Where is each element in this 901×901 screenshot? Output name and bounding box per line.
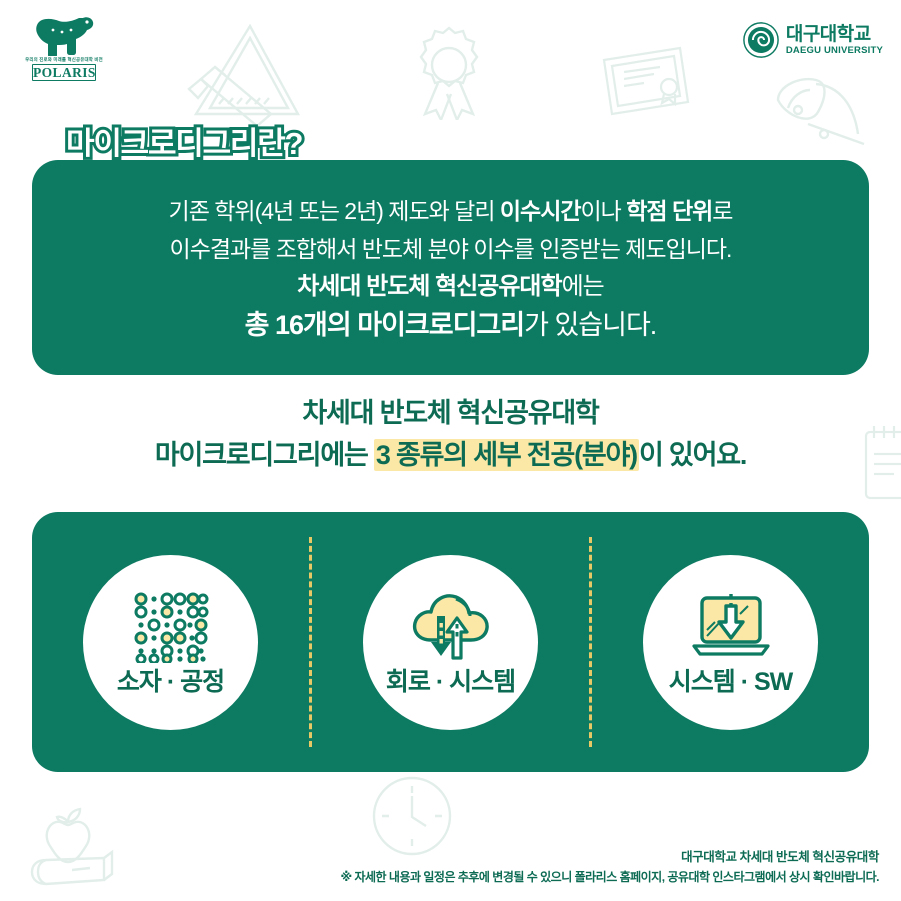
major-circle: 소자 · 공정	[83, 555, 258, 730]
lead-line-2: 마이크로디그리에는 3 종류의 세부 전공(분야)이 있어요.	[0, 434, 901, 476]
daegu-university-logo: 대구대학교 DAEGU UNIVERSITY	[743, 20, 883, 60]
definition-text: 에는	[562, 273, 604, 300]
lead-line-2-prefix: 마이크로디그리에는	[155, 440, 374, 470]
infographic-page: 우리의 진로와 미래를 혁신공유대학 비전 POLARIS 대구대학교 DAEG…	[0, 0, 901, 901]
major-label: 시스템 · SW	[669, 668, 793, 696]
definition-text: 기존 학위(4년 또는 2년) 제도와 달리	[169, 198, 500, 224]
polaris-wordmark: POLARIS	[32, 64, 96, 81]
definition-text: 이수결과를 조합해서 반도체 분야 이수를 인증받는 제도입니다.	[170, 236, 732, 262]
definition-body: 기존 학위(4년 또는 2년) 제도와 달리 이수시간이나 학점 단위로 이수결…	[32, 160, 869, 375]
major-item-device-process[interactable]: 소자 · 공정	[32, 512, 309, 772]
major-label: 소자 · 공정	[117, 668, 224, 696]
definition-emphasis: 총 16개의 마이크로디그리	[245, 310, 524, 340]
award-ribbon-icon	[413, 22, 485, 120]
definition-emphasis: 이수시간	[500, 198, 581, 224]
definition-line-4: 총 16개의 마이크로디그리가 있습니다.	[245, 306, 657, 344]
definition-line-2: 이수결과를 조합해서 반도체 분야 이수를 인증받는 제도입니다.	[170, 230, 732, 268]
polar-bear-icon	[31, 12, 97, 56]
lead-line-2-suffix: 이 있어요.	[639, 440, 746, 470]
definition-emphasis: 학점 단위	[626, 198, 712, 224]
major-circle: 회로 · 시스템	[363, 555, 538, 730]
lead-line-1: 차세대 반도체 혁신공유대학	[0, 392, 901, 434]
dot-matrix-wafer-icon	[129, 588, 213, 666]
ruler-pencil-icon	[178, 18, 308, 128]
definition-text: 로	[712, 198, 732, 224]
cloud-upload-download-icon	[409, 588, 493, 666]
polaris-tagline: 우리의 진로와 미래를 혁신공유대학 비전	[22, 57, 106, 63]
lead-in-text: 차세대 반도체 혁신공유대학 마이크로디그리에는 3 종류의 세부 전공(분야)…	[0, 392, 901, 476]
majors-card: 소자 · 공정	[32, 512, 869, 772]
polaris-logo: 우리의 진로와 미래를 혁신공유대학 비전 POLARIS	[22, 12, 106, 90]
footer: 대구대학교 차세대 반도체 혁신공유대학 ※ 자세한 내용과 일정은 추후에 변…	[340, 847, 879, 887]
definition-emphasis: 차세대 반도체 혁신공유대학	[297, 273, 561, 300]
daegu-university-seal-icon	[743, 22, 779, 58]
footer-note: ※ 자세한 내용과 일정은 추후에 변경될 수 있으니 폴라리스 홈페이지, 공…	[340, 867, 879, 887]
major-item-system-sw[interactable]: 시스템 · SW	[592, 512, 869, 772]
definition-line-3: 차세대 반도체 혁신공유대학에는	[297, 268, 603, 306]
definition-text: 가 있습니다.	[524, 310, 656, 340]
laptop-download-icon	[689, 588, 773, 666]
apple-on-book-icon	[22, 806, 120, 892]
definition-line-1: 기존 학위(4년 또는 2년) 제도와 달리 이수시간이나 학점 단위로	[169, 192, 733, 230]
definition-text: 이나	[581, 198, 627, 224]
major-label: 회로 · 시스템	[386, 668, 515, 696]
major-circle: 시스템 · SW	[643, 555, 818, 730]
footer-organization: 대구대학교 차세대 반도체 혁신공유대학	[340, 847, 879, 867]
university-name-kr: 대구대학교	[786, 25, 883, 45]
major-item-circuit-system[interactable]: 회로 · 시스템	[312, 512, 589, 772]
university-name-en: DAEGU UNIVERSITY	[786, 45, 883, 56]
lead-highlight: 3 종류의 세부 전공(분야)	[374, 439, 639, 471]
definition-heading: 마이크로디그리란?	[66, 118, 302, 163]
certificate-icon	[600, 44, 692, 120]
